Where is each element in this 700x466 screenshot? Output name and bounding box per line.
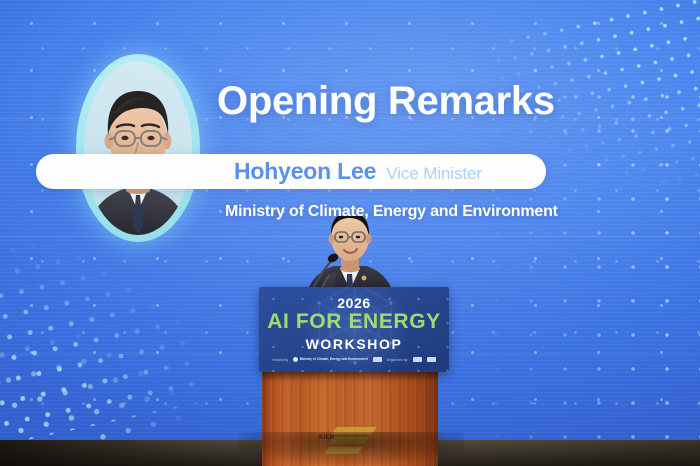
portrait-illustration — [84, 61, 192, 235]
slide-title: Opening Remarks — [217, 80, 555, 122]
hosted-by-org-name: Ministry of Climate, Energy and Environm… — [300, 358, 368, 362]
hosted-by-label: Hosted by — [272, 358, 288, 362]
banner-year: 2026 — [259, 295, 449, 311]
podium-floor-shadow — [238, 432, 464, 466]
kemco-logo-icon — [373, 357, 382, 362]
dot-pattern-bottom-left-dense — [0, 278, 185, 440]
floor-shadow-left — [0, 437, 270, 466]
hosted-by-logo-1: Ministry of Climate, Energy and Environm… — [293, 357, 368, 362]
nst-logo-icon — [413, 357, 422, 362]
podium-banner: 2026 AI FOR ENERGY WORKSHOP Hosted by Mi… — [259, 287, 449, 372]
kier-logo-icon — [427, 357, 436, 362]
banner-event-name: AI FOR ENERGY — [259, 311, 449, 332]
organized-by-logo-1 — [413, 357, 422, 362]
speaker-name-bar-content: Hohyeon Lee Vice Minister — [234, 154, 482, 189]
organized-by-logo-2 — [427, 357, 436, 362]
conference-stage-photo: Opening Remarks Hohyeon Lee Vice Ministe… — [0, 0, 700, 466]
speaker-name: Hohyeon Lee — [234, 154, 376, 189]
dot-pattern-right — [480, 80, 700, 440]
speaker-portrait — [76, 54, 200, 242]
banner-event-type: WORKSHOP — [259, 336, 449, 352]
speaker-role: Vice Minister — [386, 156, 482, 191]
hosted-by-logo-2 — [373, 357, 382, 362]
speaker-name-bar: Hohyeon Lee Vice Minister — [36, 154, 546, 189]
floor-shadow-right — [440, 437, 700, 466]
ministry-logo-icon — [293, 357, 298, 362]
organized-by-label: Organized by — [387, 358, 408, 362]
portrait-photo — [84, 61, 192, 235]
banner-sponsor-logos: Hosted by Ministry of Climate, Energy an… — [259, 357, 449, 362]
